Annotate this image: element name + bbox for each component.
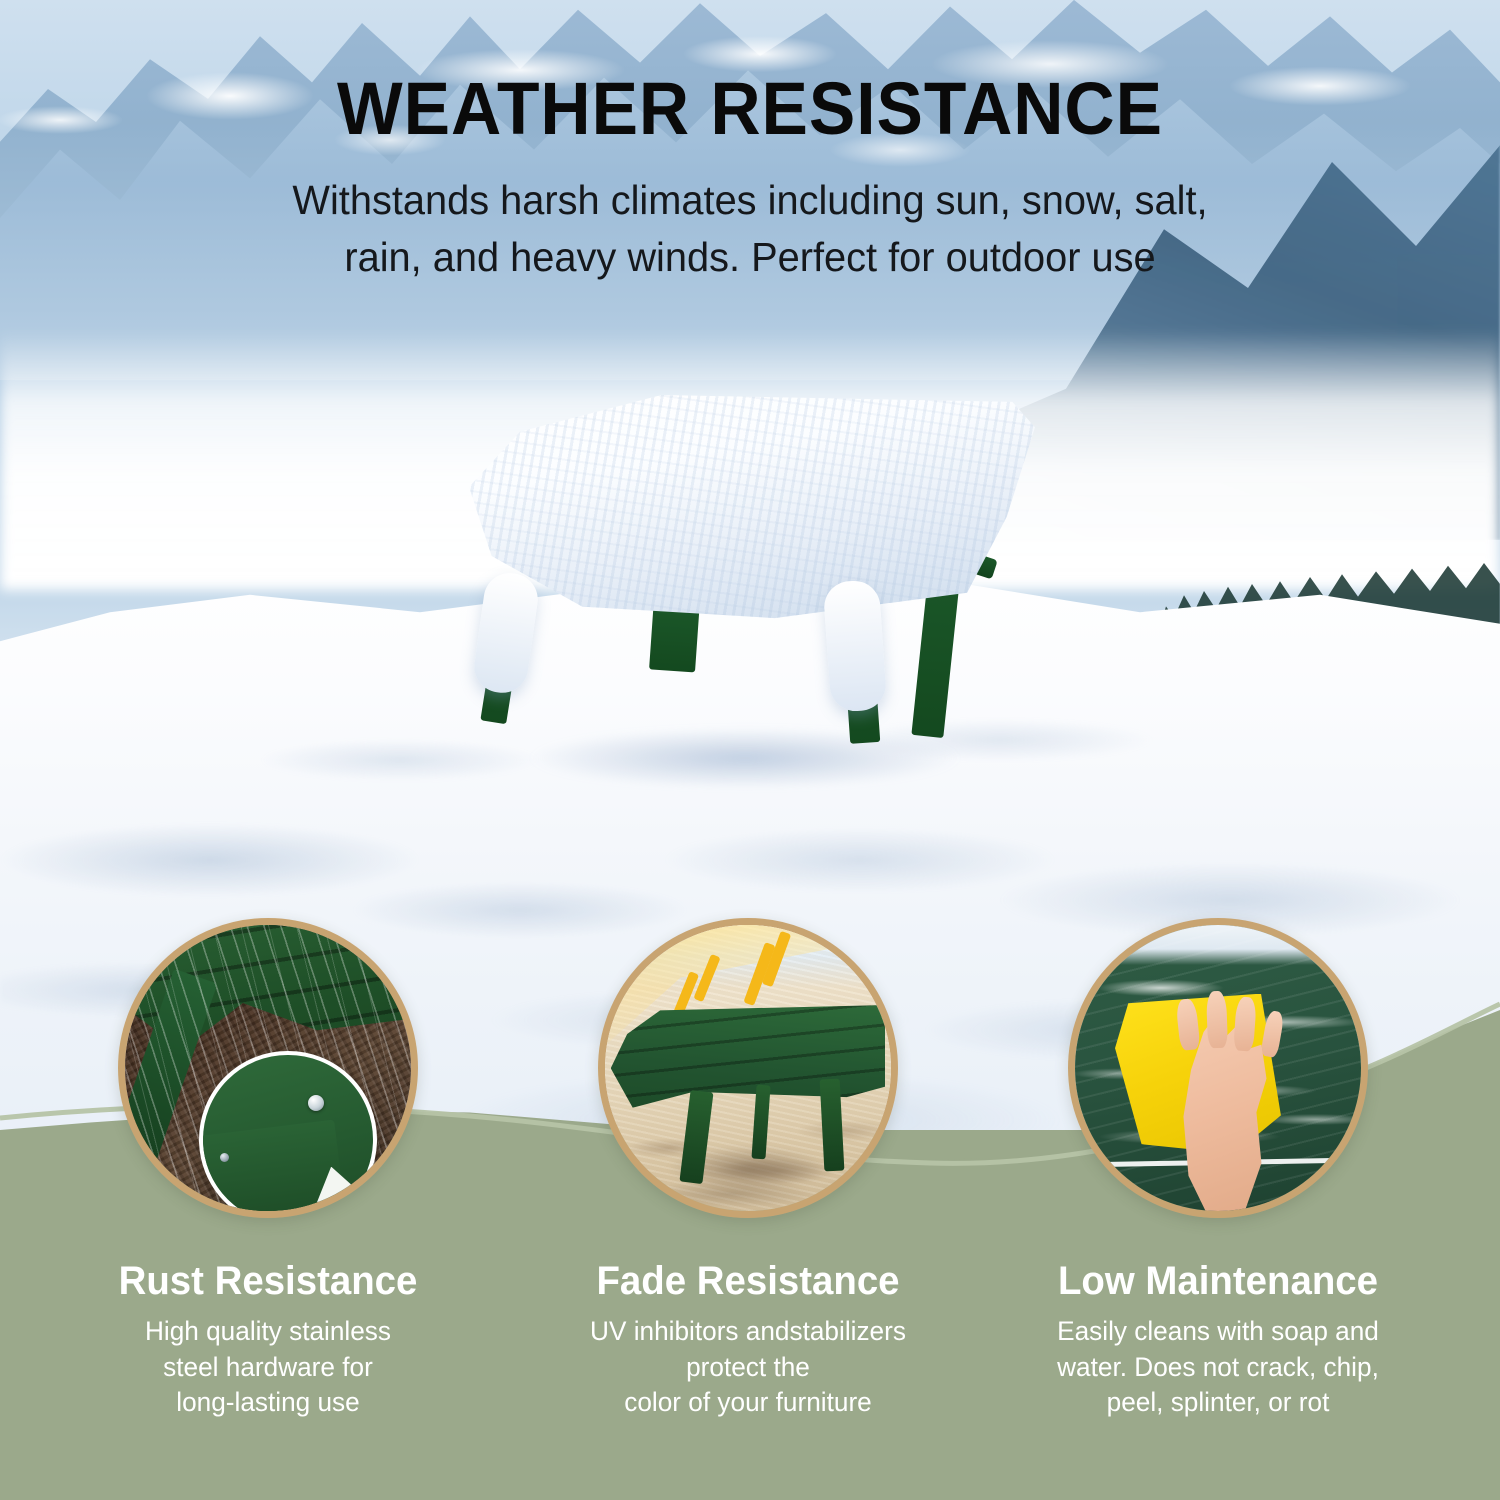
- rain-icon: [125, 925, 411, 1211]
- feature-caption-fade-resistance: Fade Resistance UV inhibitors andstabili…: [548, 1258, 948, 1421]
- feature-body-line-2: water. Does not crack, chip,: [1024, 1350, 1412, 1386]
- feature-title: Rust Resistance: [76, 1258, 460, 1304]
- feature-image-fade-resistance: [598, 918, 898, 1218]
- feature-body: UV inhibitors andstabilizers protect the…: [554, 1314, 942, 1421]
- infographic-stage: WEATHER RESISTANCE Withstands harsh clim…: [0, 0, 1500, 1500]
- snow-texture: [469, 395, 1035, 625]
- subtitle-line-2: rain, and heavy winds. Perfect for outdo…: [23, 229, 1478, 286]
- feature-caption-rust-resistance: Rust Resistance High quality stainless s…: [68, 1258, 468, 1421]
- feature-title: Fade Resistance: [556, 1258, 940, 1304]
- feature-caption-low-maintenance: Low Maintenance Easily cleans with soap …: [1018, 1258, 1418, 1421]
- feature-body-line-3: color of your furniture: [554, 1385, 942, 1421]
- feature-body-line-2: steel hardware for: [74, 1350, 462, 1386]
- cleaning-cloth-icon: [1075, 925, 1361, 1211]
- sun-rays-icon: [605, 925, 891, 1211]
- snow-covered-bench-icon: [455, 395, 1075, 795]
- feature-body-line-2: protect the: [554, 1350, 942, 1386]
- page-subtitle: Withstands harsh climates including sun,…: [23, 172, 1478, 285]
- feature-body-line-1: Easily cleans with soap and: [1024, 1314, 1412, 1350]
- snow-cap-right-leg: [823, 579, 888, 713]
- feature-body-line-3: long-lasting use: [74, 1385, 462, 1421]
- feature-body-line-1: UV inhibitors andstabilizers: [554, 1314, 942, 1350]
- header-block: WEATHER RESISTANCE Withstands harsh clim…: [0, 0, 1500, 285]
- feature-image-rust-resistance: [118, 918, 418, 1218]
- feature-title: Low Maintenance: [1026, 1258, 1410, 1304]
- feature-body: Easily cleans with soap and water. Does …: [1024, 1314, 1412, 1421]
- feature-image-low-maintenance: [1068, 918, 1368, 1218]
- stainless-screw-icon: [308, 1095, 324, 1111]
- finger-2: [1206, 990, 1228, 1048]
- feature-body-line-1: High quality stainless: [74, 1314, 462, 1350]
- page-title: WEATHER RESISTANCE: [45, 72, 1455, 146]
- feature-body: High quality stainless steel hardware fo…: [74, 1314, 462, 1421]
- feature-body-line-3: peel, splinter, or rot: [1024, 1385, 1412, 1421]
- magnifier-inset: [199, 1051, 376, 1218]
- subtitle-line-1: Withstands harsh climates including sun,…: [23, 172, 1478, 229]
- snow-cap-left-leg: [471, 570, 541, 696]
- bench-shadow: [445, 715, 1045, 801]
